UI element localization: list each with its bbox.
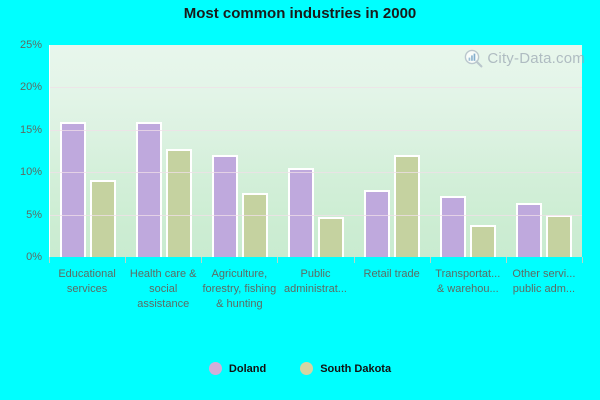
bar-doland[interactable] — [60, 122, 86, 257]
legend-swatch-icon — [300, 362, 313, 375]
bar-south-dakota[interactable] — [394, 155, 420, 257]
bar-doland[interactable] — [516, 203, 542, 257]
legend-item[interactable]: South Dakota — [300, 362, 391, 375]
magnifier-bar-chart-icon — [464, 49, 483, 68]
x-axis-category-label: Agriculture, forestry, fishing & hunting — [201, 263, 277, 353]
bar-south-dakota[interactable] — [470, 225, 496, 257]
bar-group — [278, 45, 354, 257]
y-axis-tick-label: 5% — [26, 209, 42, 221]
x-axis-category-label: Retail trade — [354, 263, 430, 353]
bar-group — [202, 45, 278, 257]
x-axis-category-label: Educational services — [49, 263, 125, 353]
x-axis-category-label: Other servi... public adm... — [506, 263, 582, 353]
x-axis-category-label: Transportat... & warehou... — [430, 263, 506, 353]
gridline — [50, 87, 582, 88]
x-axis-labels: Educational servicesHealth care & social… — [49, 263, 582, 353]
bar-doland[interactable] — [440, 196, 466, 257]
chart-title: Most common industries in 2000 — [0, 5, 600, 22]
gridline — [50, 172, 582, 173]
bar-south-dakota[interactable] — [242, 193, 268, 257]
watermark-text: City-Data.com — [487, 50, 585, 67]
x-axis-category-label: Public administrat... — [277, 263, 353, 353]
legend-swatch-icon — [209, 362, 222, 375]
y-axis-tick-label: 10% — [20, 166, 42, 178]
plot-area — [49, 45, 582, 257]
legend-label: Doland — [229, 363, 266, 375]
y-axis-tick-label: 0% — [26, 251, 42, 263]
legend-item[interactable]: Doland — [209, 362, 266, 375]
watermark: City-Data.com — [464, 49, 585, 68]
bar-group — [354, 45, 430, 257]
gridline — [50, 215, 582, 216]
y-axis-tick-label: 25% — [20, 39, 42, 51]
bar-doland[interactable] — [212, 155, 238, 257]
bar-group — [430, 45, 506, 257]
bar-doland[interactable] — [364, 190, 390, 257]
bar-group — [126, 45, 202, 257]
bar-south-dakota[interactable] — [166, 149, 192, 257]
bar-doland[interactable] — [288, 168, 314, 257]
x-axis-category-label: Health care & social assistance — [125, 263, 201, 353]
y-axis-labels: 0%5%10%15%20%25% — [0, 0, 45, 400]
y-axis-tick-label: 15% — [20, 124, 42, 136]
bar-south-dakota[interactable] — [318, 217, 344, 257]
bars-layer — [50, 45, 582, 257]
legend-label: South Dakota — [320, 363, 391, 375]
bar-group — [50, 45, 126, 257]
chart-container: Most common industries in 2000 0%5%10%15… — [0, 0, 600, 400]
y-axis-tick-label: 20% — [20, 81, 42, 93]
x-axis-tick — [582, 257, 583, 263]
bar-south-dakota[interactable] — [546, 215, 572, 257]
chart-legend: DolandSouth Dakota — [0, 362, 600, 375]
bar-group — [506, 45, 582, 257]
bar-doland[interactable] — [136, 122, 162, 257]
bar-south-dakota[interactable] — [90, 180, 116, 257]
gridline — [50, 130, 582, 131]
